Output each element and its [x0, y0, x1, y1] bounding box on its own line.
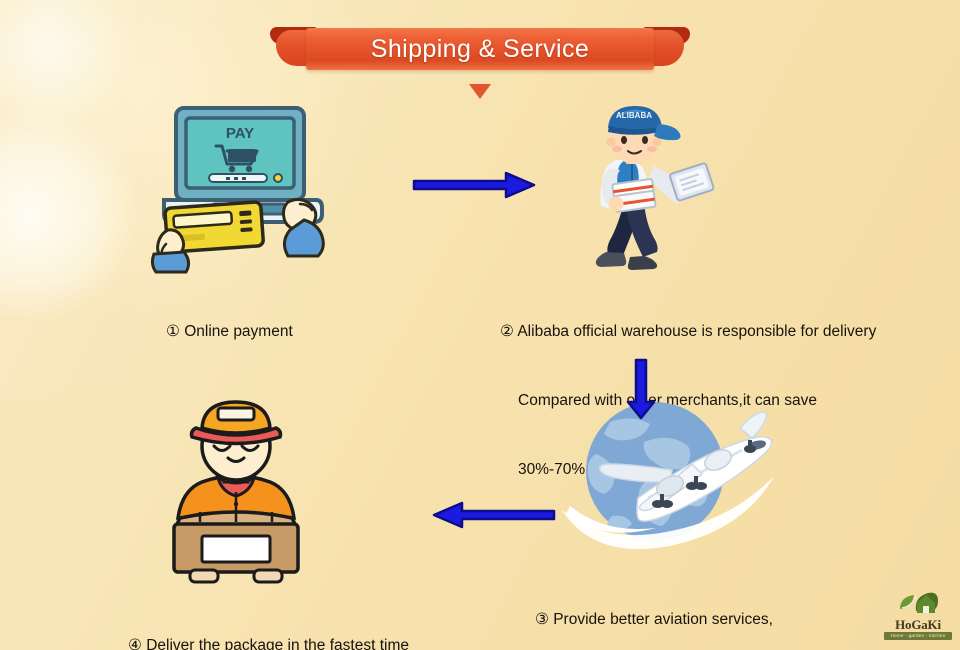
courier-delivery-illustration: ALIBABA [566, 104, 716, 269]
page-title: Shipping & Service [371, 35, 589, 64]
courier-cap-text: ALIBABA [616, 111, 652, 120]
package-courier-illustration [152, 400, 320, 588]
arrow-down-icon [626, 358, 656, 420]
banner: Shipping & Service [270, 18, 690, 80]
svg-text:PAY: PAY [226, 125, 254, 142]
online-payment-illustration: PAY [152, 108, 328, 258]
airplane-globe-illustration [552, 398, 797, 553]
step-3-caption: ③ Provide better aviation services, Enjo… [535, 562, 773, 650]
step-1-caption: ① Online payment [166, 274, 293, 389]
arrow-right-icon [412, 170, 537, 200]
step-4-caption-line-1: ④ Deliver the package in the fastest tim… [128, 634, 409, 650]
brand-logo: HoGaKi Home - garden - kitchen [884, 591, 952, 640]
step-3-caption-line-1: ③ Provide better aviation services, [535, 608, 773, 631]
step-2-caption-line-1: ② Alibaba official warehouse is responsi… [500, 320, 876, 343]
banner-caret-icon [469, 84, 491, 99]
arrow-left-icon [424, 500, 556, 530]
step-4-caption: ④ Deliver the package in the fastest tim… [128, 588, 409, 650]
step-1-caption-line-1: ① Online payment [166, 320, 293, 343]
leaf-house-icon [896, 591, 940, 617]
logo-name: HoGaKi [884, 618, 952, 631]
shipping-service-infographic: Shipping & Service PAY [0, 0, 960, 650]
ribbon-body: Shipping & Service [306, 28, 654, 70]
logo-tagline: Home - garden - kitchen [884, 632, 952, 640]
